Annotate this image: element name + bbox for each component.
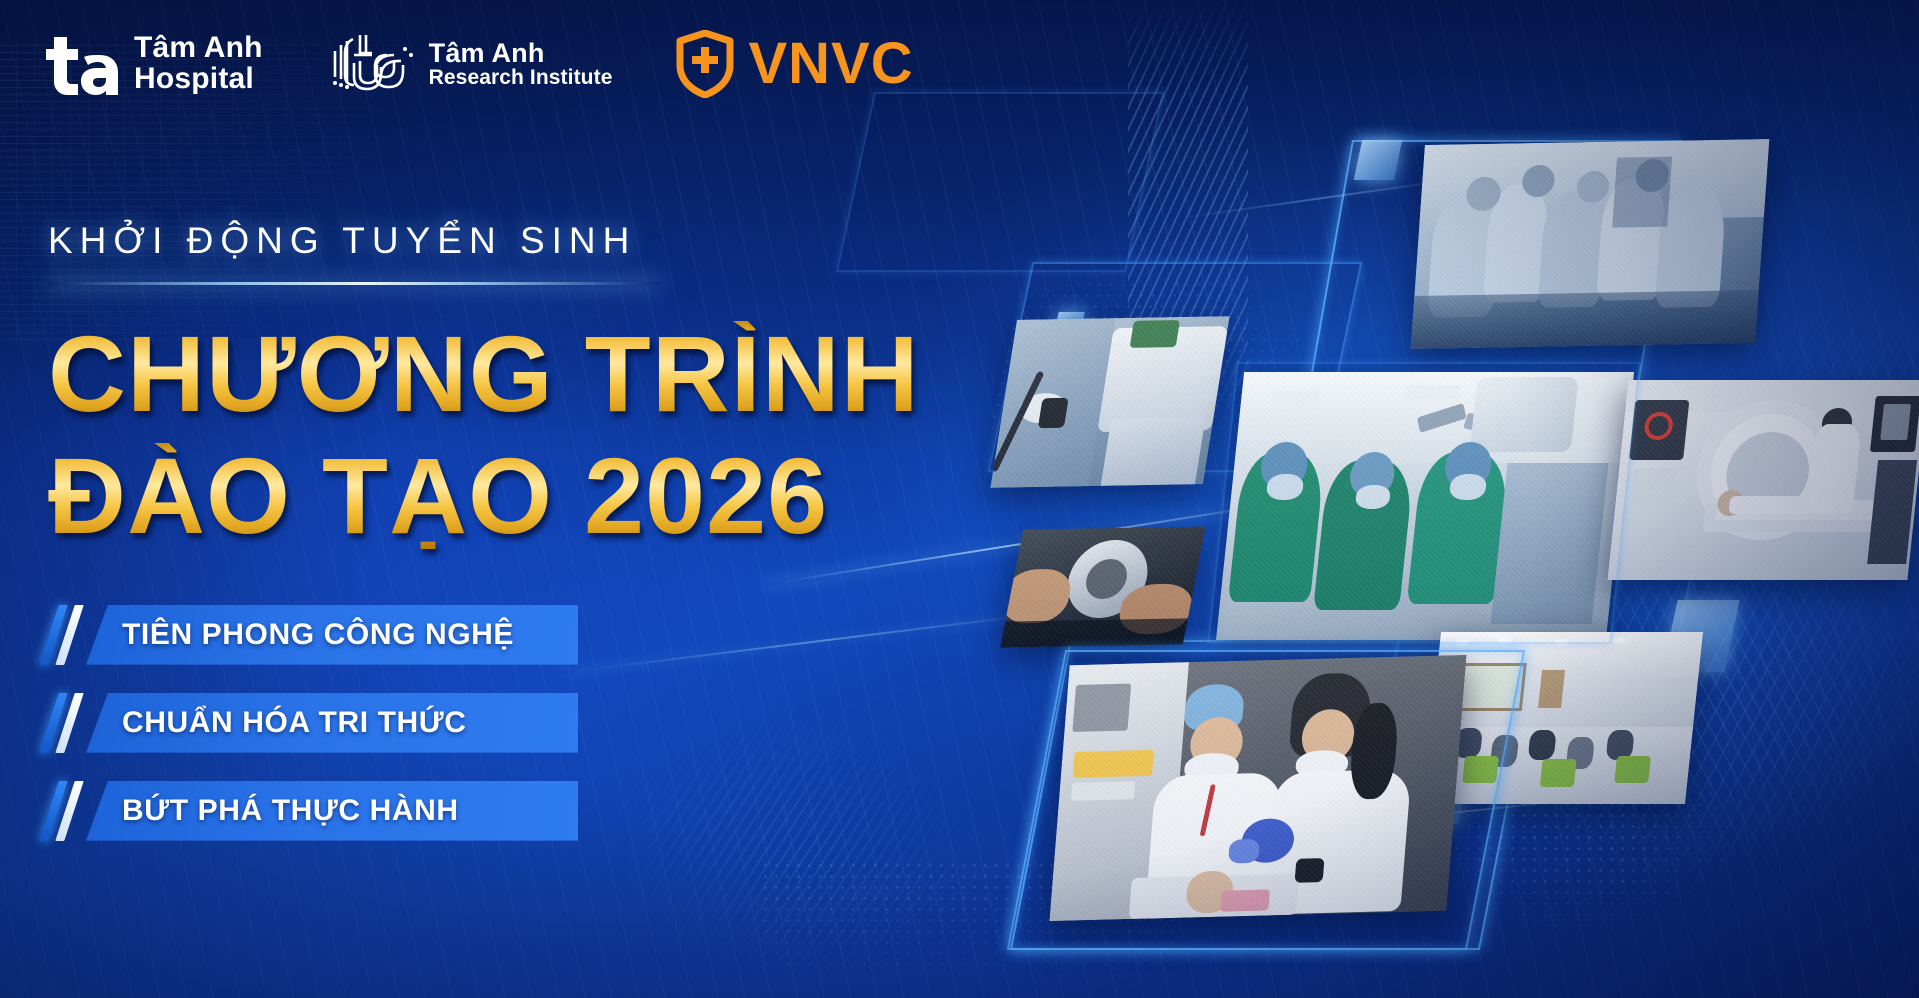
bullet-bar: CHUẨN HÓA TRI THỨC: [86, 693, 578, 753]
bg-chip-1: [1354, 140, 1403, 180]
logo-bar: Tâm Anh Hospital: [44, 30, 914, 98]
hero-title-line-2: ĐÀO TẠO 2026: [48, 443, 920, 549]
bullet-label: BỨT PHÁ THỰC HÀNH: [122, 794, 459, 828]
logo-line-2: Hospital: [134, 64, 263, 95]
tam-anh-hospital-wordmark: Tâm Anh Hospital: [134, 33, 263, 94]
tam-anh-ta-mark-icon: [44, 33, 122, 95]
bg-wireframe-front-2: [1207, 362, 1641, 644]
bullet-item-2: CHUẨN HÓA TRI THỨC: [48, 693, 578, 753]
photo-surgical-team-ppe: [1411, 139, 1770, 349]
double-slash-icon: [48, 693, 88, 753]
banner-root: Tâm Anh Hospital: [0, 0, 1919, 998]
bullet-label: TIÊN PHONG CÔNG NGHỆ: [122, 618, 514, 652]
vnvc-wordmark: VNVC: [748, 35, 913, 93]
bullet-item-3: BỨT PHÁ THỰC HÀNH: [48, 781, 578, 841]
logo-tam-anh-hospital[interactable]: Tâm Anh Hospital: [44, 33, 263, 95]
photo-endoscopy-procedure: [990, 316, 1229, 488]
bullet-bar: TIÊN PHONG CÔNG NGHỆ: [86, 605, 578, 665]
logo-line-1: Tâm Anh: [134, 33, 263, 64]
hero-kicker: KHỞI ĐỘNG TUYỂN SINH: [48, 220, 920, 262]
bullet-label: CHUẨN HÓA TRI THỨC: [122, 706, 467, 740]
hero-title-line-1: CHƯƠNG TRÌNH: [48, 321, 920, 427]
hero-bullet-list: TIÊN PHONG CÔNG NGHỆ CHUẨN HÓA TRI THỨC …: [48, 605, 920, 841]
bg-wireframe-front-1: [1007, 650, 1525, 950]
logo-vnvc[interactable]: VNVC: [676, 30, 913, 98]
bullet-item-1: TIÊN PHONG CÔNG NGHỆ: [48, 605, 578, 665]
bullet-bar: BỨT PHÁ THỰC HÀNH: [86, 781, 578, 841]
tam-anh-research-wordmark: Tâm Anh Research Institute: [429, 40, 613, 89]
photo-microscope-hands: [1000, 526, 1206, 647]
logo-line-2: Research Institute: [429, 67, 613, 88]
photo-ct-scanner-patient: [1607, 380, 1919, 580]
logo-line-1: Tâm Anh: [429, 40, 613, 68]
hero-kicker-divider: [48, 282, 660, 285]
shield-cross-icon: [676, 30, 734, 98]
logo-tam-anh-research-institute[interactable]: Tâm Anh Research Institute: [327, 31, 613, 97]
tam-anh-fingerprint-ta-mark-icon: [327, 31, 417, 97]
double-slash-icon: [48, 605, 88, 665]
hero-copy: KHỞI ĐỘNG TUYỂN SINH CHƯƠNG TRÌNH ĐÀO TẠ…: [48, 220, 920, 841]
double-slash-icon: [48, 781, 88, 841]
